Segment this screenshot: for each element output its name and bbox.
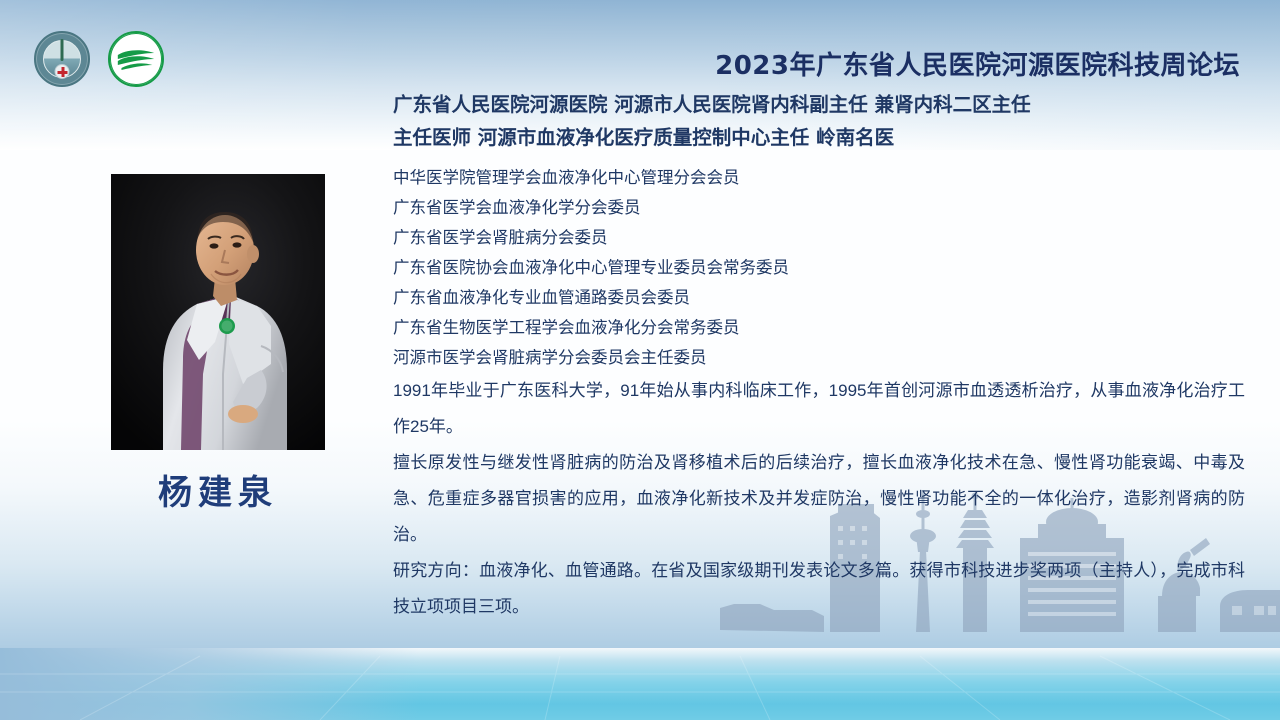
- page-title: 2023年广东省人民医院河源医院科技周论坛: [715, 45, 1240, 82]
- header-logo-group: [34, 31, 164, 87]
- bio-paragraph: 擅长原发性与继发性肾脏病的防治及肾移植术后的后续治疗，擅长血液净化技术在急、慢性…: [393, 445, 1245, 553]
- list-item: 广东省医院协会血液净化中心管理专业委员会常务委员: [393, 253, 1251, 283]
- speaker-name: 杨建泉: [111, 465, 325, 514]
- bio-paragraph: 1991年毕业于广东医科大学，91年始从事内科临床工作，1995年首创河源市血透…: [393, 373, 1245, 445]
- speaker-titles: 广东省人民医院河源医院 河源市人民医院肾内科副主任 兼肾内科二区主任 主任医师 …: [393, 88, 1251, 154]
- credentials-list: 中华医学院管理学会血液净化中心管理分会会员 广东省医学会血液净化学分会委员 广东…: [393, 163, 1251, 373]
- water-perspective-lines: [0, 648, 1280, 720]
- list-item: 中华医学院管理学会血液净化中心管理分会会员: [393, 163, 1251, 193]
- bio-paragraph: 研究方向：血液净化、血管通路。在省及国家级期刊发表论文多篇。获得市科技进步奖两项…: [393, 553, 1245, 625]
- speaker-title-line: 主任医师 河源市血液净化医疗质量控制中心主任 岭南名医: [393, 121, 1251, 154]
- list-item: 河源市医学会肾脏病学分会委员会主任委员: [393, 343, 1251, 373]
- speaker-bio-content: 广东省人民医院河源医院 河源市人民医院肾内科副主任 兼肾内科二区主任 主任医师 …: [393, 88, 1251, 625]
- presentation-slide: 2023年广东省人民医院河源医院科技周论坛: [0, 0, 1280, 720]
- list-item: 广东省生物医学工程学会血液净化分会常务委员: [393, 313, 1251, 343]
- speaker-portrait-photo: [111, 174, 325, 450]
- list-item: 广东省医学会血液净化学分会委员: [393, 193, 1251, 223]
- guangdong-medical-university-logo-icon: [34, 31, 90, 87]
- list-item: 广东省血液净化专业血管通路委员会委员: [393, 283, 1251, 313]
- heyuan-peoples-hospital-logo-icon: [108, 31, 164, 87]
- speaker-title-line: 广东省人民医院河源医院 河源市人民医院肾内科副主任 兼肾内科二区主任: [393, 88, 1251, 121]
- list-item: 广东省医学会肾脏病分会委员: [393, 223, 1251, 253]
